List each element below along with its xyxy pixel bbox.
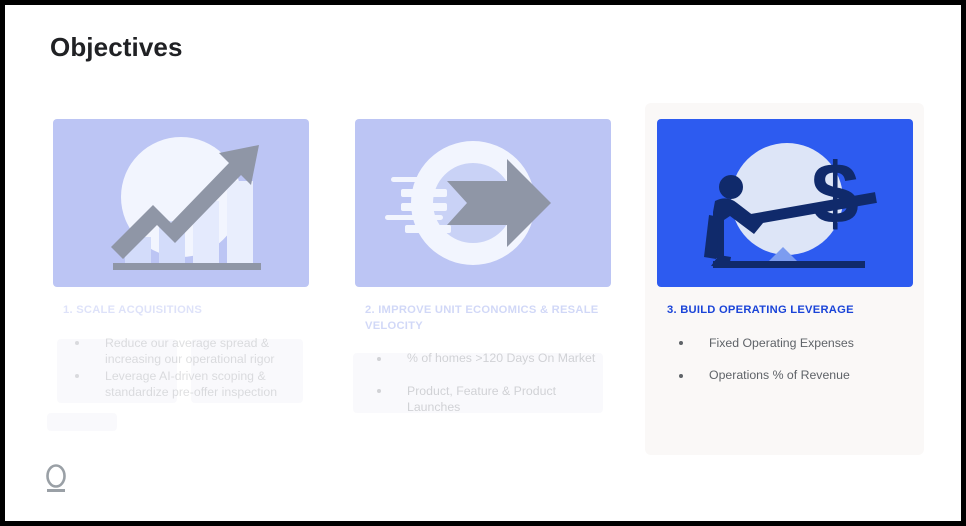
slide-frame: Objectives 1. SCALE ACQUISITIONS Reduce … xyxy=(5,5,961,521)
page-title: Objectives xyxy=(50,32,183,63)
objective-card-improve-unit-economics[interactable]: 2. IMPROVE UNIT ECONOMICS & RESALE VELOC… xyxy=(343,103,622,455)
speed-arrow-circle-icon xyxy=(355,119,611,287)
list-item: Operations % of Revenue xyxy=(667,367,910,384)
card-bullet-list: Fixed Operating Expenses Operations % of… xyxy=(667,335,910,384)
objective-card-build-operating-leverage[interactable]: $ 3. BUILD OPERATING LEVERAGE Fixed Oper… xyxy=(645,103,924,455)
list-item: % of homes >120 Days On Market xyxy=(365,350,608,367)
lever-dollar-person-icon: $ xyxy=(657,119,913,287)
card-image-leverage: $ xyxy=(657,119,913,287)
card-body: 2. IMPROVE UNIT ECONOMICS & RESALE VELOC… xyxy=(365,303,608,432)
list-item: Leverage AI-driven scoping & standardize… xyxy=(63,368,306,401)
growth-bar-chart-arrow-icon xyxy=(53,119,309,287)
card-heading: 3. BUILD OPERATING LEVERAGE xyxy=(667,303,910,319)
card-heading: 2. IMPROVE UNIT ECONOMICS & RESALE VELOC… xyxy=(365,303,608,334)
svg-text:$: $ xyxy=(811,146,859,242)
list-item: Product, Feature & Product Launches xyxy=(365,383,608,416)
objective-card-scale-acquisitions[interactable]: 1. SCALE ACQUISITIONS Reduce our average… xyxy=(41,103,320,455)
ghost-panel xyxy=(47,413,117,431)
opendoor-o-logo-icon xyxy=(43,464,69,494)
card-image-velocity xyxy=(355,119,611,287)
card-body: 3. BUILD OPERATING LEVERAGE Fixed Operat… xyxy=(667,303,910,400)
card-body: 1. SCALE ACQUISITIONS Reduce our average… xyxy=(63,303,306,401)
card-bullet-list: % of homes >120 Days On Market Product, … xyxy=(365,350,608,416)
card-bullet-list: Reduce our average spread & increasing o… xyxy=(63,335,306,401)
card-heading: 1. SCALE ACQUISITIONS xyxy=(63,303,306,319)
card-image-growth xyxy=(53,119,309,287)
list-item: Reduce our average spread & increasing o… xyxy=(63,335,306,368)
list-item: Fixed Operating Expenses xyxy=(667,335,910,352)
